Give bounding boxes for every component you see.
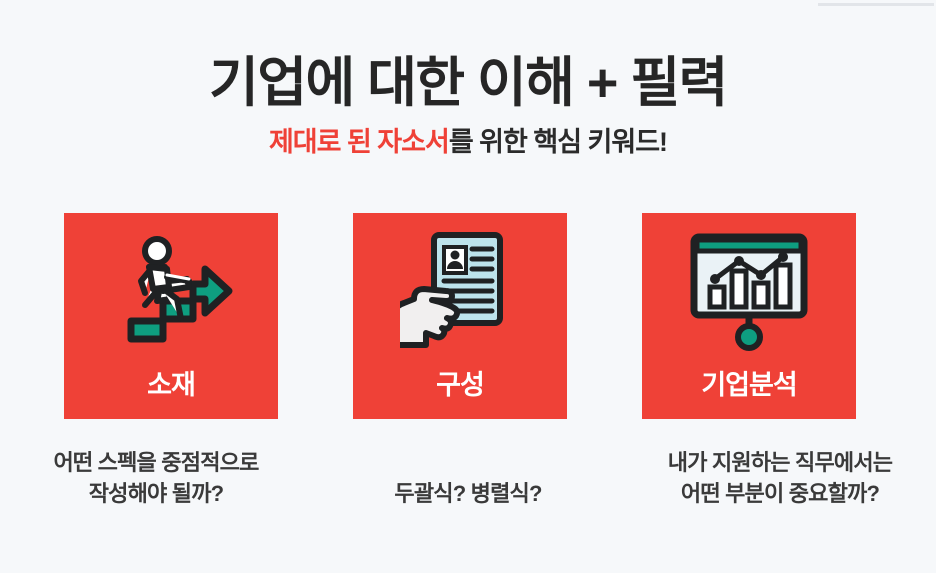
keyword-card-guseong[interactable]: 구성 bbox=[353, 213, 567, 419]
card-icon-wrapper bbox=[686, 229, 812, 353]
page-subtitle: 제대로 된 자소서를 위한 핵심 키워드! bbox=[0, 125, 936, 159]
caption-soje: 어떤 스펙을 중점적으로 작성해야 될까? bbox=[0, 447, 312, 509]
caption-line-1: 내가 지원하는 직무에서는 bbox=[624, 447, 936, 478]
keyword-card-list: 소재 bbox=[64, 213, 856, 419]
card-label-soje: 소재 bbox=[64, 369, 278, 401]
subtitle-rest-text: 를 위한 핵심 키워드! bbox=[449, 127, 667, 157]
keyword-card-company-analysis[interactable]: 기업분석 bbox=[642, 213, 856, 419]
caption-guseong: 두괄식? 병렬식? bbox=[312, 447, 624, 509]
caption-line-1: 두괄식? 병렬식? bbox=[312, 478, 624, 509]
caption-line-1: 어떤 스펙을 중점적으로 bbox=[0, 447, 312, 478]
card-label-guseong: 구성 bbox=[353, 369, 567, 401]
card-icon-wrapper bbox=[400, 229, 520, 353]
presentation-chart-board-icon bbox=[686, 229, 812, 353]
page-title: 기업에 대한 이해 + 필력 bbox=[0, 52, 936, 114]
subtitle-accent-text: 제대로 된 자소서 bbox=[269, 127, 449, 157]
stand-base-dot bbox=[738, 326, 760, 348]
header-block: 기업에 대한 이해 + 필력 제대로 된 자소서를 위한 핵심 키워드! bbox=[0, 52, 936, 159]
caption-line-2: 작성해야 될까? bbox=[0, 478, 312, 509]
infographic-page: 기업에 대한 이해 + 필력 제대로 된 자소서를 위한 핵심 키워드! bbox=[0, 0, 936, 573]
hand-shape bbox=[400, 289, 457, 345]
top-edge-artifact bbox=[818, 3, 934, 6]
person-climbing-stairs-arrow-icon bbox=[101, 229, 241, 353]
caption-company-analysis: 내가 지원하는 직무에서는 어떤 부분이 중요할까? bbox=[624, 447, 936, 509]
card-label-company-analysis: 기업분석 bbox=[642, 369, 856, 401]
keyword-card-soje[interactable]: 소재 bbox=[64, 213, 278, 419]
caption-line-2: 어떤 부분이 중요할까? bbox=[624, 478, 936, 509]
caption-list: 어떤 스펙을 중점적으로 작성해야 될까? 두괄식? 병렬식? 내가 지원하는 … bbox=[0, 447, 936, 509]
hand-holding-resume-icon bbox=[400, 229, 520, 353]
board-header-bar bbox=[697, 240, 801, 251]
card-icon-wrapper bbox=[101, 229, 241, 353]
